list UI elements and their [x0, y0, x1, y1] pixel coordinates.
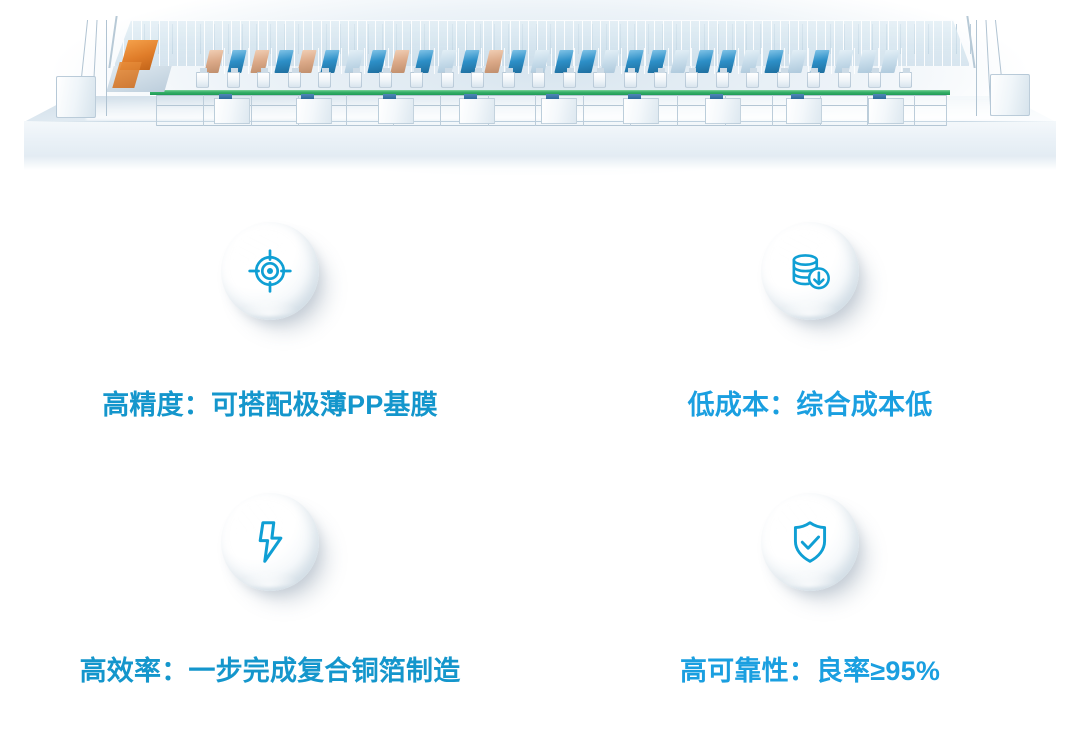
process-chamber — [787, 48, 810, 74]
coating-head — [379, 72, 392, 88]
coating-head — [563, 72, 576, 88]
process-chamber — [554, 48, 577, 74]
coating-head — [318, 72, 331, 88]
control-cabinet — [623, 98, 659, 124]
feature-icon-orb — [761, 493, 859, 591]
frame-post — [203, 95, 204, 126]
feature-icon-orb — [221, 493, 319, 591]
frame-post — [946, 95, 947, 126]
coating-head — [624, 72, 637, 88]
target-icon — [221, 222, 319, 320]
feature-card-high-precision[interactable]: 高精度：可搭配极薄PP基膜 — [0, 196, 540, 474]
feature-label: 高可靠性：良率≥95% — [680, 658, 940, 685]
coating-head — [899, 72, 912, 88]
process-chamber — [881, 48, 904, 74]
coating-head — [196, 72, 209, 88]
coating-head — [838, 72, 851, 88]
end-tower-left — [56, 76, 96, 118]
platform-front-face — [24, 121, 1056, 170]
coating-head — [593, 72, 606, 88]
control-cabinet — [378, 98, 414, 124]
feature-card-low-cost[interactable]: 低成本：综合成本低 — [540, 196, 1080, 474]
coating-head — [532, 72, 545, 88]
shield-check-icon — [761, 493, 859, 591]
control-cabinet — [296, 98, 332, 124]
process-chamber — [694, 48, 717, 74]
feature-label: 高效率：一步完成复合铜箔制造 — [80, 658, 461, 685]
coating-head — [777, 72, 790, 88]
feature-highlight-slide: 高精度：可搭配极薄PP基膜 — [0, 0, 1080, 751]
feature-label: 低成本：综合成本低 — [688, 392, 933, 419]
coating-head — [410, 72, 423, 88]
coating-head — [868, 72, 881, 88]
feature-card-high-reliability[interactable]: 高可靠性：良率≥95% — [540, 474, 1080, 751]
process-chamber — [391, 48, 414, 74]
feature-icon-orb — [221, 222, 319, 320]
process-chamber-row — [204, 48, 904, 74]
hero-equipment-render — [0, 0, 1080, 200]
coating-head — [257, 72, 270, 88]
coating-head — [288, 72, 301, 88]
coating-head — [685, 72, 698, 88]
lightning-bolt-icon — [221, 493, 319, 591]
control-cabinet — [541, 98, 577, 124]
coating-head — [716, 72, 729, 88]
coin-stack-down-arrow-icon — [761, 222, 859, 320]
film-unwinder-unit — [110, 36, 184, 98]
process-chamber — [484, 48, 507, 74]
frame-post — [914, 95, 915, 126]
coating-head — [502, 72, 515, 88]
control-cabinet — [868, 98, 904, 124]
process-chamber — [204, 48, 227, 74]
feature-icon-orb — [761, 222, 859, 320]
coating-head — [349, 72, 362, 88]
coating-head — [654, 72, 667, 88]
control-cabinet — [214, 98, 250, 124]
process-chamber — [297, 48, 320, 74]
control-cabinet — [786, 98, 822, 124]
end-tower-right — [990, 74, 1030, 116]
feature-card-high-efficiency[interactable]: 高效率：一步完成复合铜箔制造 — [0, 474, 540, 751]
production-line-machine — [84, 20, 1000, 126]
frame-post — [156, 95, 157, 126]
control-cabinet — [459, 98, 495, 124]
coating-head — [227, 72, 240, 88]
coating-head — [807, 72, 820, 88]
control-cabinet-row — [214, 98, 904, 126]
feature-grid: 高精度：可搭配极薄PP基膜 — [0, 196, 1080, 751]
coating-head — [746, 72, 759, 88]
control-cabinet — [705, 98, 741, 124]
coating-head-row — [196, 72, 912, 90]
coating-head — [471, 72, 484, 88]
coating-head — [441, 72, 454, 88]
feature-label: 高精度：可搭配极薄PP基膜 — [102, 392, 438, 419]
